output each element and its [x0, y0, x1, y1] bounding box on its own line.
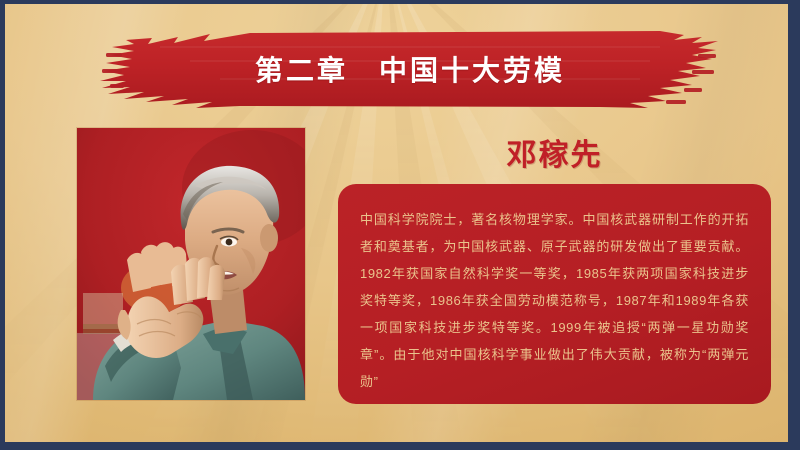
person-name-heading: 邓稼先 [338, 130, 771, 174]
description-card: 中国科学院院士，著名核物理学家。中国核武器研制工作的开拓者和奠基者，为中国核武器… [338, 184, 771, 404]
slide-canvas: 第二章 中国十大劳模 [5, 4, 788, 442]
portrait-photo [77, 128, 305, 400]
page-title: 第二章 中国十大劳模 [100, 26, 720, 112]
slide-outer-frame: 第二章 中国十大劳模 [0, 0, 800, 450]
description-text: 中国科学院院士，著名核物理学家。中国核武器研制工作的开拓者和奠基者，为中国核武器… [360, 206, 749, 395]
